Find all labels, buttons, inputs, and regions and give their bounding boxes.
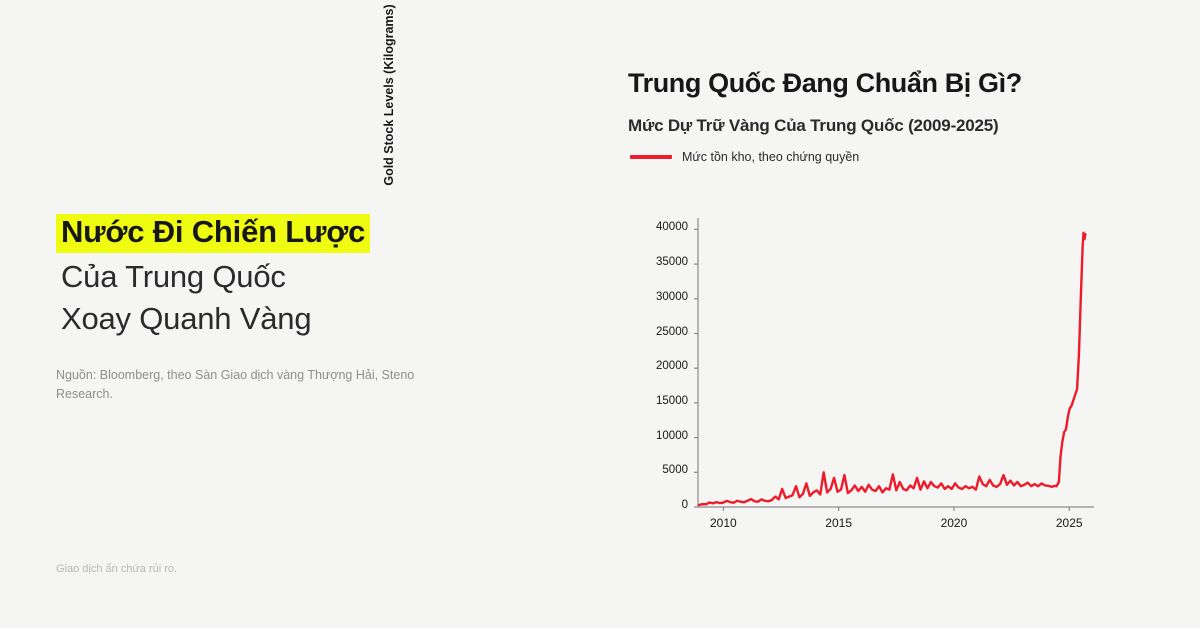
y-axis-title: Gold Stock Levels (Kilograms)	[382, 0, 396, 215]
headline-line-1-highlighted: Nước Đi Chiến Lược	[56, 214, 370, 253]
infographic-root: Nước Đi Chiến Lược Của Trung Quốc Xoay Q…	[0, 0, 1200, 628]
chart-plot-area: Gold Stock Levels (Kilograms) 0500010000…	[600, 0, 1200, 628]
headline: Nước Đi Chiến Lược Của Trung Quốc Xoay Q…	[56, 214, 526, 337]
headline-line-1-wrap: Nước Đi Chiến Lược	[56, 214, 526, 253]
risk-disclaimer: Giao dịch ẩn chứa rủi ro.	[56, 563, 177, 575]
left-panel: Nước Đi Chiến Lược Của Trung Quốc Xoay Q…	[0, 0, 600, 628]
headline-line-2: Của Trung Quốc	[56, 259, 526, 295]
headline-line-3: Xoay Quanh Vàng	[56, 301, 526, 337]
chart-svg	[600, 0, 1200, 628]
right-panel: Trung Quốc Đang Chuẩn Bị Gì? Mức Dự Trữ …	[600, 0, 1200, 628]
source-note: Nguồn: Bloomberg, theo Sàn Giao dịch vàn…	[56, 366, 456, 405]
